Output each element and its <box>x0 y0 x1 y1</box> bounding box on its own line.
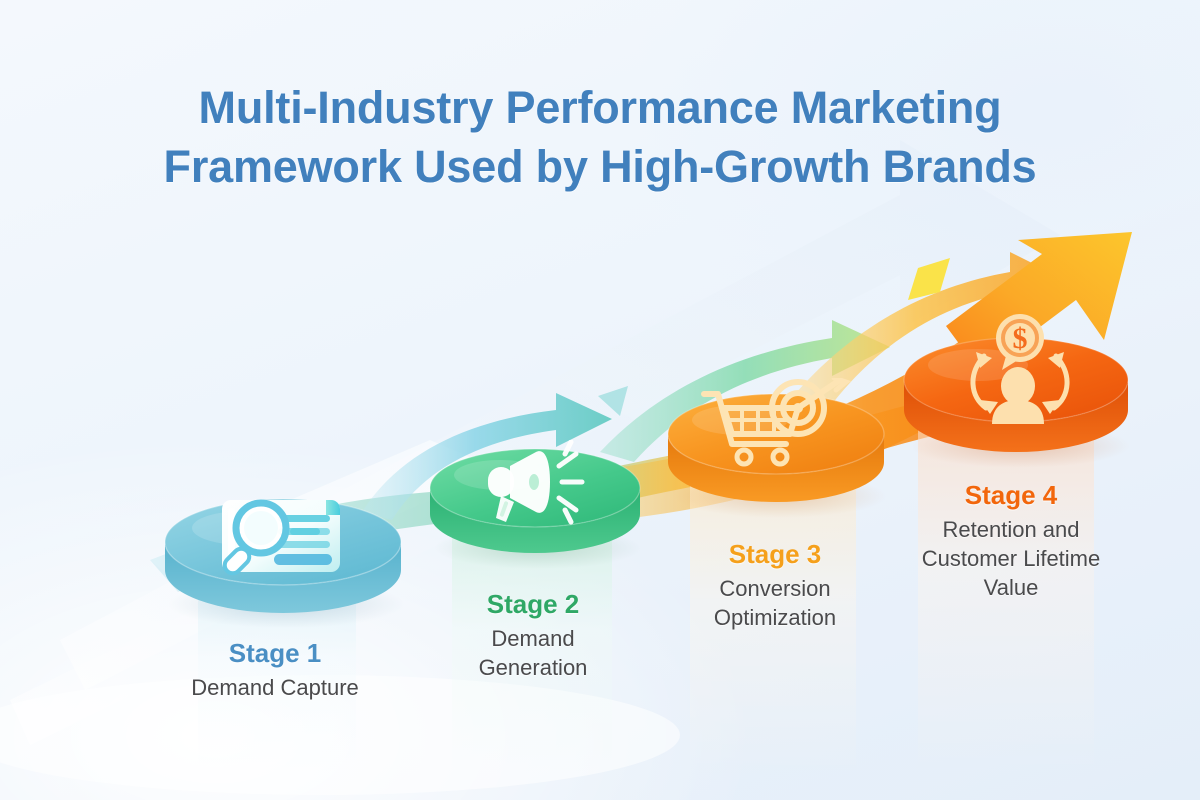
stage-number-3: Stage 3 <box>660 538 890 571</box>
stage-number-1: Stage 1 <box>160 637 390 670</box>
stage-number-2: Stage 2 <box>418 588 648 621</box>
stage-icon-3 <box>694 378 854 474</box>
stage-label-4[interactable]: Stage 4 Retention and Customer Lifetime … <box>896 479 1126 602</box>
stage-number-4: Stage 4 <box>896 479 1126 512</box>
stage-description-4: Retention and Customer Lifetime Value <box>909 515 1114 602</box>
title-line-1: Multi-Industry Performance Marketing <box>199 82 1002 133</box>
page-title: Multi-Industry Performance Marketing Fra… <box>0 78 1200 197</box>
stage-description-2: Demand Generation <box>448 624 618 682</box>
stage-label-3[interactable]: Stage 3 Conversion Optimization <box>660 538 890 632</box>
megaphone-icon <box>470 440 600 526</box>
cart-target-icon <box>694 378 854 474</box>
title-line-2: Framework Used by High-Growth Brands <box>0 137 1200 196</box>
magnifier-document-icon <box>206 490 356 585</box>
customer-value-icon: $ <box>952 312 1084 424</box>
stage-icon-1 <box>206 490 356 585</box>
stage-icon-4: $ <box>952 312 1084 424</box>
stage-description-3: Conversion Optimization <box>695 574 855 632</box>
svg-text:$: $ <box>1013 322 1028 355</box>
stage-description-1: Demand Capture <box>160 673 390 702</box>
stage-label-1[interactable]: Stage 1 Demand Capture <box>160 637 390 702</box>
stage-icon-2 <box>470 440 600 526</box>
infographic-canvas: $ Multi-Industry Performance Marketing F… <box>0 0 1200 800</box>
stage-label-2[interactable]: Stage 2 Demand Generation <box>418 588 648 682</box>
